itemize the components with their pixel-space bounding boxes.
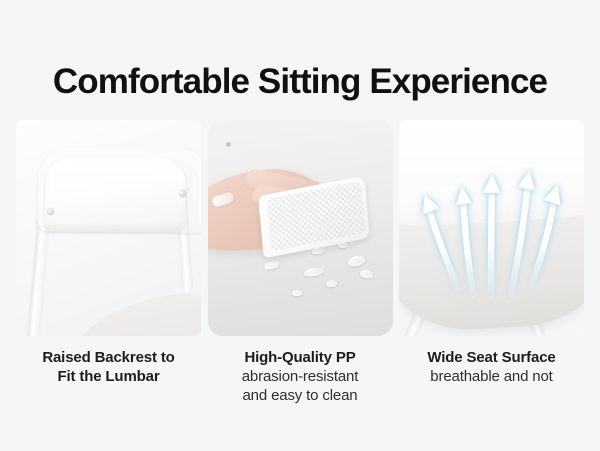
caption-row: Raised Backrest to Fit the Lumbar High-Q… — [16, 348, 584, 438]
caption-sub-line: breathable and not — [399, 367, 584, 386]
page-title: Comfortable Sitting Experience — [0, 60, 600, 104]
chair-seat-shape — [64, 286, 201, 336]
caption-line: Wide Seat Surface — [399, 348, 584, 367]
caption-chair-backrest: Raised Backrest to Fit the Lumbar — [16, 348, 201, 438]
infographic-page: Comfortable Sitting Experience — [0, 0, 600, 451]
caption-sub-line: and easy to clean — [208, 386, 393, 405]
hand-wiping-surface-photo — [208, 120, 393, 336]
panel-chair-backrest — [16, 120, 201, 336]
water-droplet — [303, 266, 324, 277]
caption-sub-line: abrasion-resistant — [208, 367, 393, 386]
airflow-arrows-icon — [399, 120, 584, 336]
caption-line: Fit the Lumbar — [16, 367, 201, 386]
surface-speck — [226, 142, 231, 147]
water-droplet — [325, 279, 337, 287]
caption-pp-material: High-Quality PP abrasion-resistant and e… — [208, 348, 393, 438]
caption-seat-breathability: Wide Seat Surface breathable and not — [399, 348, 584, 438]
rivet-icon — [47, 208, 54, 215]
water-droplet — [359, 269, 373, 279]
water-droplet — [347, 254, 366, 268]
water-droplet — [292, 290, 302, 296]
caption-line: Raised Backrest to — [16, 348, 201, 367]
chair-backrest-photo — [16, 120, 201, 336]
panel-row — [16, 120, 584, 336]
rivet-icon — [179, 190, 186, 197]
panel-pp-material — [208, 120, 393, 336]
water-droplet — [263, 260, 279, 271]
panel-seat-breathability — [399, 120, 584, 336]
backrest-highlight — [56, 164, 174, 184]
seat-airflow-photo — [399, 120, 584, 336]
caption-line: High-Quality PP — [208, 348, 393, 367]
